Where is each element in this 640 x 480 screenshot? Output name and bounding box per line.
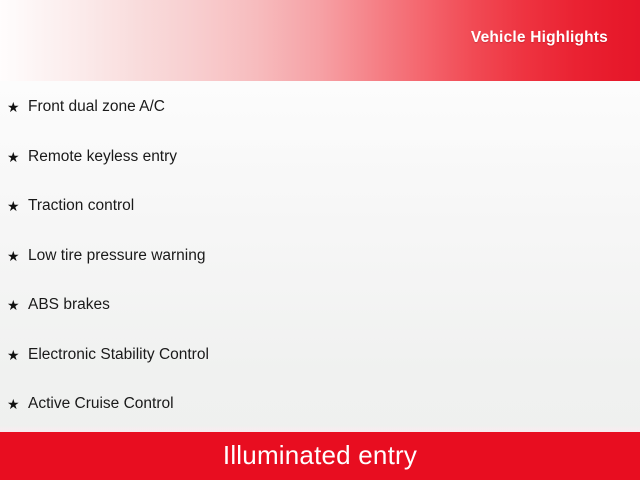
feature-label: Active Cruise Control bbox=[28, 395, 174, 412]
footer-separator bbox=[0, 425, 640, 432]
header-banner: Vehicle Highlights bbox=[0, 0, 640, 81]
footer-headline: Illuminated entry bbox=[223, 440, 417, 471]
star-bullet-icon: ★ bbox=[7, 348, 28, 362]
star-bullet-icon: ★ bbox=[7, 100, 28, 114]
vehicle-highlights-slide: Vehicle Highlights ★ Front dual zone A/C… bbox=[0, 0, 640, 480]
star-bullet-icon: ★ bbox=[7, 397, 28, 411]
feature-label: Traction control bbox=[28, 197, 134, 214]
feature-label: Electronic Stability Control bbox=[28, 346, 209, 363]
list-item: ★ Low tire pressure warning bbox=[0, 242, 640, 270]
list-item: ★ ABS brakes bbox=[0, 291, 640, 319]
page-title: Vehicle Highlights bbox=[471, 29, 640, 47]
vehicle-features-list: ★ Front dual zone A/C ★ Remote keyless e… bbox=[0, 81, 640, 432]
feature-label: ABS brakes bbox=[28, 296, 110, 313]
list-item: ★ Front dual zone A/C bbox=[0, 93, 640, 121]
star-bullet-icon: ★ bbox=[7, 150, 28, 164]
feature-label: Remote keyless entry bbox=[28, 148, 177, 165]
footer-banner: Illuminated entry bbox=[0, 432, 640, 480]
list-item: ★ Traction control bbox=[0, 192, 640, 220]
list-item: ★ Active Cruise Control bbox=[0, 390, 640, 418]
feature-label: Front dual zone A/C bbox=[28, 98, 165, 115]
star-bullet-icon: ★ bbox=[7, 199, 28, 213]
list-item: ★ Electronic Stability Control bbox=[0, 341, 640, 369]
list-item: ★ Remote keyless entry bbox=[0, 143, 640, 171]
feature-label: Low tire pressure warning bbox=[28, 247, 205, 264]
star-bullet-icon: ★ bbox=[7, 298, 28, 312]
star-bullet-icon: ★ bbox=[7, 249, 28, 263]
